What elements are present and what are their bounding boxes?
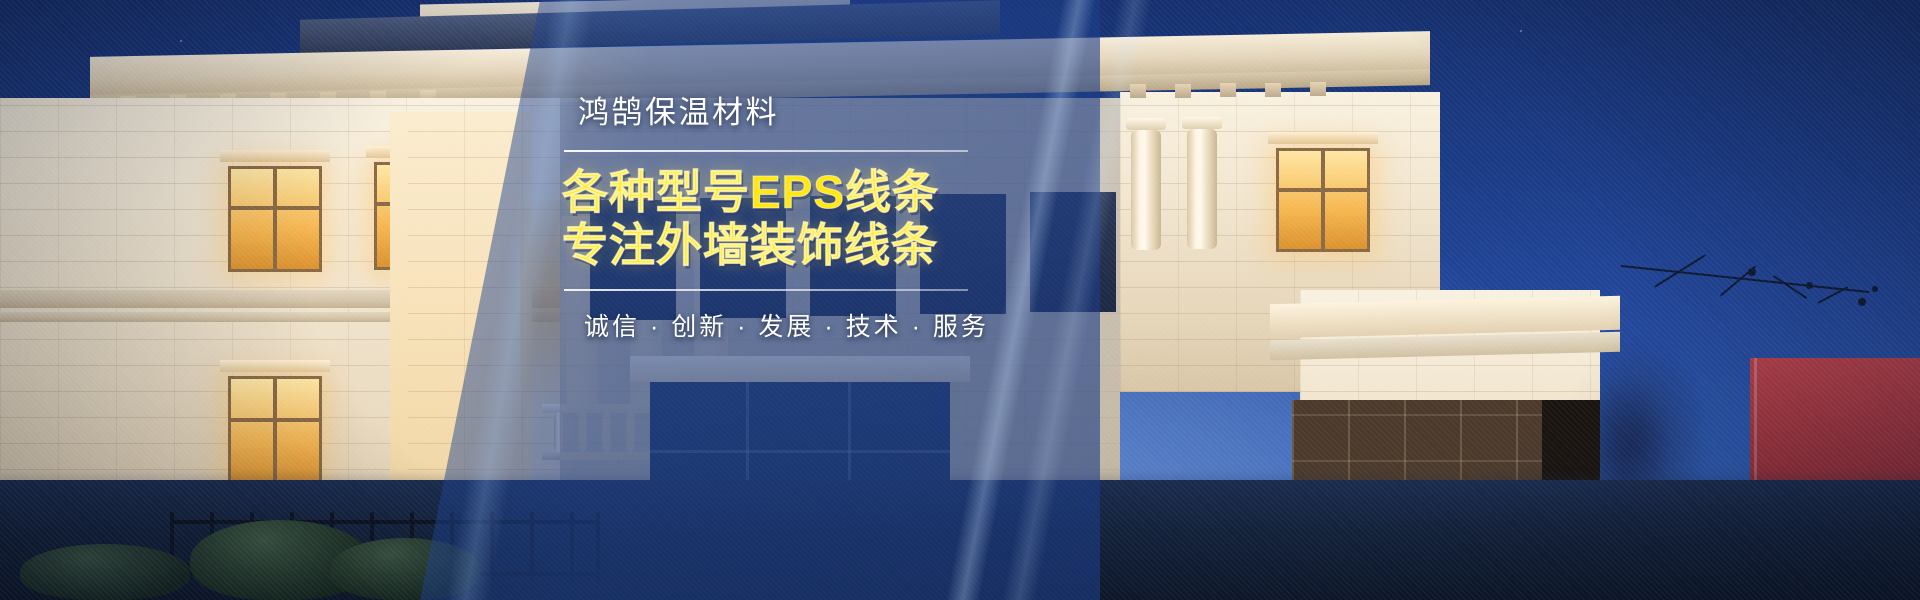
foreground-bush xyxy=(20,544,190,600)
entrance-lintel xyxy=(630,356,970,382)
foreground-bush xyxy=(330,538,480,600)
star xyxy=(1520,30,1522,32)
tagline: 诚信 · 创新 · 发展 · 技术 · 服务 xyxy=(562,307,1032,343)
promo-banner: 鸿鹄保温材料 各种型号EPS线条 专注外墙装饰线条 诚信 · 创新 · 发展 ·… xyxy=(0,0,1920,600)
tree-branch-icon xyxy=(1620,250,1920,340)
headline-line-1: 各种型号EPS线条 xyxy=(562,166,1032,219)
banner-copy: 鸿鹄保温材料 各种型号EPS线条 专注外墙装饰线条 诚信 · 创新 · 发展 ·… xyxy=(562,96,1032,343)
divider-top xyxy=(564,150,968,152)
headline-line-2: 专注外墙装饰线条 xyxy=(562,219,1032,272)
brand-name: 鸿鹄保温材料 xyxy=(562,96,1032,130)
divider-bottom xyxy=(564,289,968,291)
